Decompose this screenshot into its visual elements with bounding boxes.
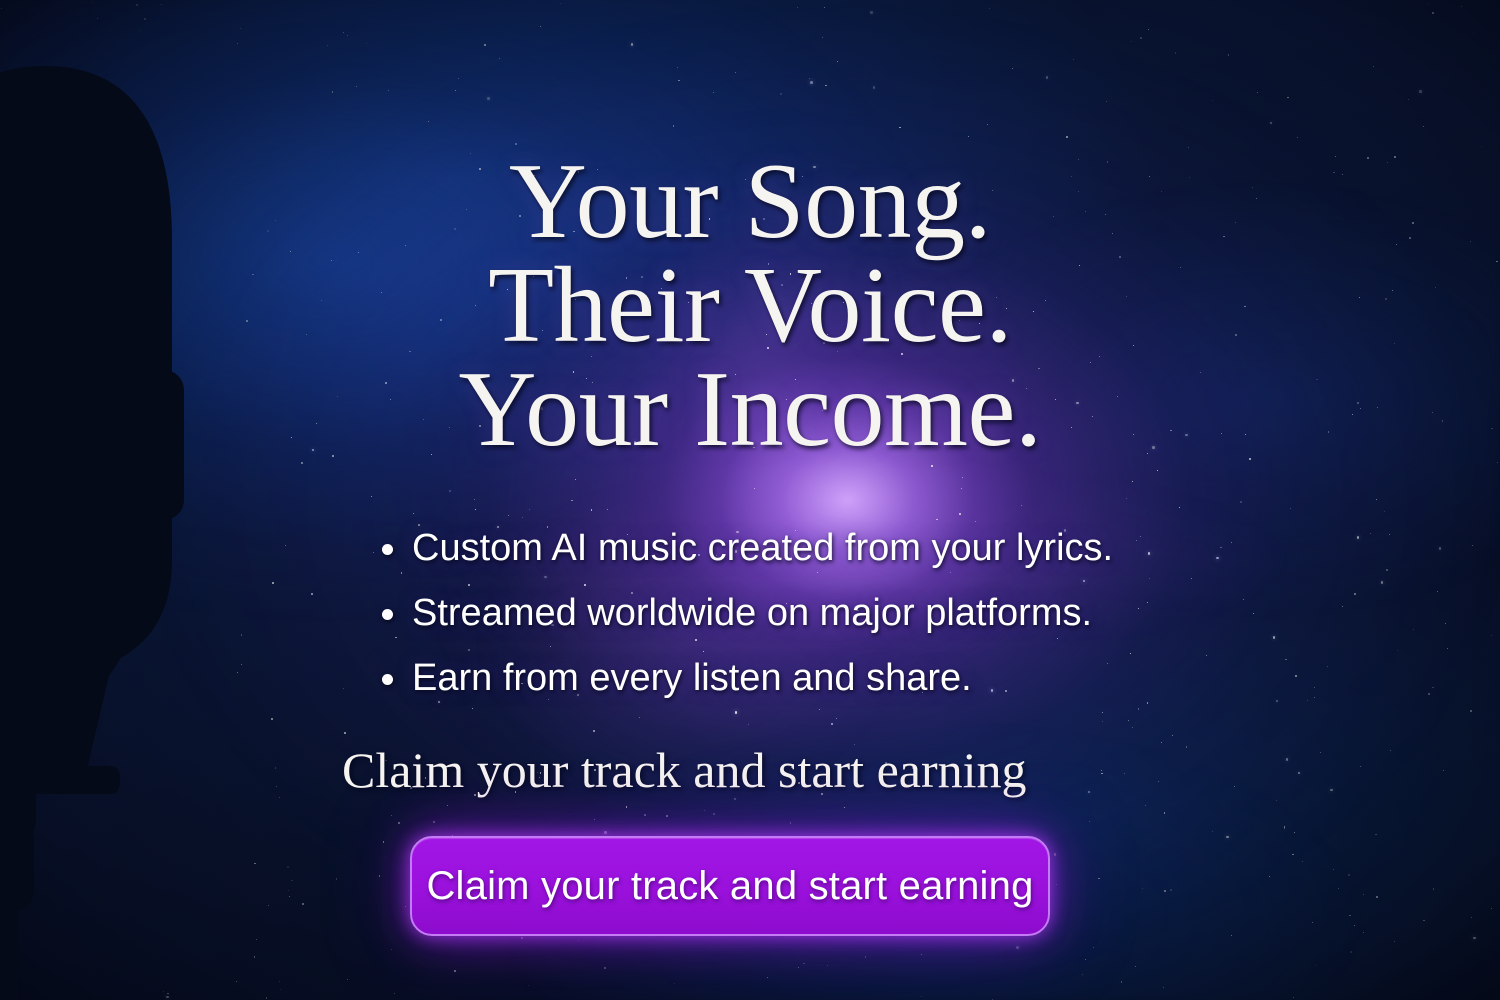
feature-bullet-list: Custom AI music created from your lyrics… <box>378 526 1113 721</box>
claim-track-button[interactable]: Claim your track and start earning <box>410 836 1050 936</box>
subheading: Claim your track and start earning <box>342 740 1027 800</box>
headline-line-2: Their Voice. <box>300 254 1200 358</box>
headline-line-1: Your Song. <box>300 150 1200 254</box>
cta-container: Claim your track and start earning <box>410 836 1050 936</box>
headline-line-3: Your Income. <box>300 358 1200 462</box>
banner-content: Your Song. Their Voice. Your Income. Cus… <box>300 0 1200 1000</box>
microphone-silhouette-icon <box>0 0 240 1000</box>
promo-banner: Your Song. Their Voice. Your Income. Cus… <box>0 0 1500 1000</box>
list-item: Earn from every listen and share. <box>378 656 1113 700</box>
list-item: Streamed worldwide on major platforms. <box>378 591 1113 635</box>
page-title: Your Song. Their Voice. Your Income. <box>300 150 1200 461</box>
list-item: Custom AI music created from your lyrics… <box>378 526 1113 570</box>
